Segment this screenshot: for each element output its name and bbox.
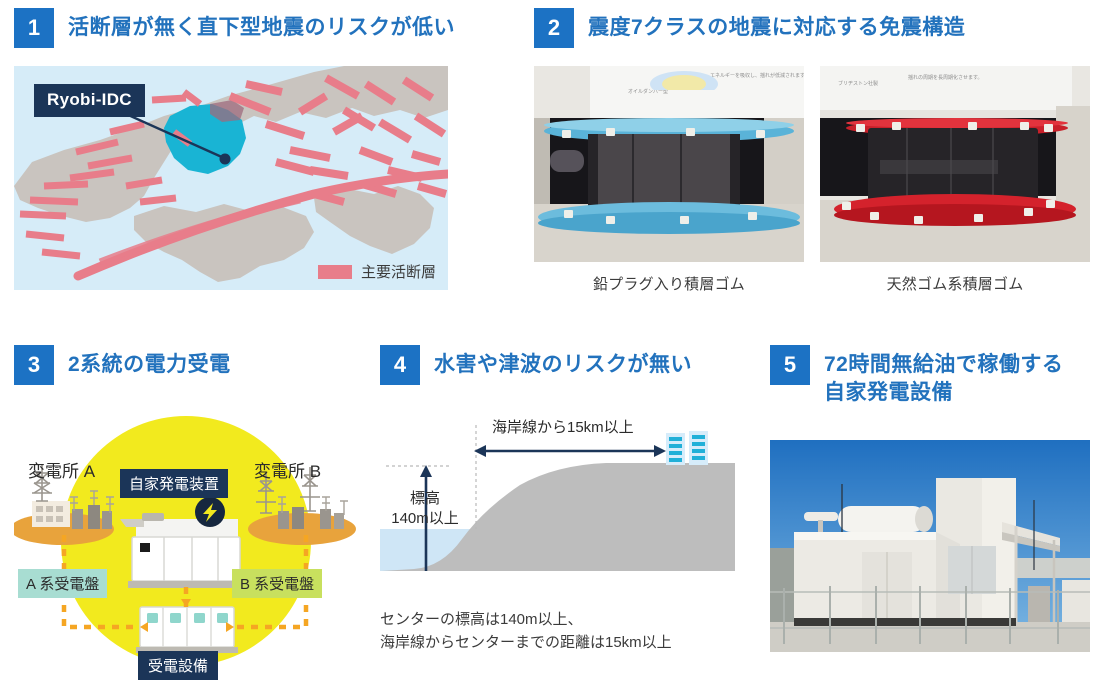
section-2-header: 2 震度7クラスの地震に対応する免震構造 xyxy=(534,8,1089,48)
section-1-badge: 1 xyxy=(14,8,54,48)
section-2-title: 震度7クラスの地震に対応する免震構造 xyxy=(588,8,965,42)
section-3-header: 3 2系統の電力受電 xyxy=(14,345,359,385)
section-4-title: 水害や津波のリスクが無い xyxy=(434,345,692,379)
section-3: 3 2系統の電力受電 xyxy=(14,345,359,666)
photo-2-poster: ブリヂストン社製 揺れの周期を長周期化させます。 xyxy=(820,66,1072,110)
photo-caption-1: 鉛プラグ入り積層ゴム xyxy=(534,273,804,294)
section-1-title: 活断層が無く直下型地震のリスクが低い xyxy=(68,8,455,42)
section-4-caption: センターの標高は140m以上、 海岸線からセンターまでの距離は15km以上 xyxy=(380,608,750,655)
label-panel-b: B 系受電盤 xyxy=(232,569,322,598)
photo-natural-rubber-bearing: ブリヂストン社製 揺れの周期を長周期化させます。 xyxy=(820,66,1090,262)
isolator-photo-cell-2: ブリヂストン社製 揺れの周期を長周期化させます。 xyxy=(820,66,1090,294)
section-3-title: 2系統の電力受電 xyxy=(68,345,231,379)
section-3-badge: 3 xyxy=(14,345,54,385)
photo-2-poster-text-2: 揺れの周期を長周期化させます。 xyxy=(908,74,983,81)
legend-swatch-fault xyxy=(318,265,352,279)
section-1-header: 1 活断層が無く直下型地震のリスクが低い xyxy=(14,8,514,48)
isolator-photo-cell-1: オイルダンパー型 エネルギーを吸収し、揺れが低減されます。 xyxy=(534,66,804,294)
label-elevation: 標高 140m以上 xyxy=(382,489,468,530)
generator-photo-graphic xyxy=(770,440,1090,652)
elevation-distance-diagram: 海岸線から15km以上 標高 140m以上 xyxy=(380,411,735,596)
isolator-photo-row: オイルダンパー型 エネルギーを吸収し、揺れが低減されます。 xyxy=(534,66,1089,294)
section-2-badge: 2 xyxy=(534,8,574,48)
label-panel-a: A 系受電盤 xyxy=(18,569,107,598)
section-4-header: 4 水害や津波のリスクが無い xyxy=(380,345,750,385)
photo-backup-generator-facility xyxy=(770,440,1090,652)
section-4-badge: 4 xyxy=(380,345,420,385)
label-distance-from-coast: 海岸線から15km以上 xyxy=(492,416,634,437)
dual-feed-power-diagram: 変電所 A 変電所 B 自家発電装置 A 系受電盤 B 系受電盤 受電設備 xyxy=(14,401,359,666)
power-diagram-graphic xyxy=(14,401,359,666)
label-receiving-equipment: 受電設備 xyxy=(138,651,218,680)
site-label-ryobi-idc: Ryobi-IDC xyxy=(34,84,145,117)
legend-label-fault: 主要活断層 xyxy=(361,261,436,282)
section-4: 4 水害や津波のリスクが無い xyxy=(380,345,750,655)
section-2: 2 震度7クラスの地震に対応する免震構造 オイルダンパー型 エネルギーを吸収し、… xyxy=(534,8,1089,294)
section-5-header: 5 72時間無給油で稼働する 自家発電設備 xyxy=(770,345,1095,406)
section-5-badge: 5 xyxy=(770,345,810,385)
label-generator: 自家発電装置 xyxy=(120,469,228,498)
photo-1-poster-diagram xyxy=(646,68,722,90)
section-1: 1 活断層が無く直下型地震のリスクが低い xyxy=(14,8,514,290)
label-substation-b: 変電所 B xyxy=(254,457,321,482)
infographic-page: 1 活断層が無く直下型地震のリスクが低い xyxy=(0,0,1101,663)
photo-lead-plug-rubber-bearing: オイルダンパー型 エネルギーを吸収し、揺れが低減されます。 xyxy=(534,66,804,262)
section-5: 5 72時間無給油で稼働する 自家発電設備 xyxy=(770,345,1095,652)
map-legend: 主要活断層 xyxy=(318,261,436,282)
label-substation-a: 変電所 A xyxy=(28,457,95,482)
label-elevation-line-2: 140m以上 xyxy=(382,509,468,529)
photo-2-poster-text-1: ブリヂストン社製 xyxy=(838,80,878,87)
section-5-title: 72時間無給油で稼働する 自家発電設備 xyxy=(824,345,1063,406)
label-elevation-line-1: 標高 xyxy=(382,489,468,509)
photo-1-poster: オイルダンパー型 エネルギーを吸収し、揺れが低減されます。 xyxy=(590,66,804,118)
photo-1-poster-text-2: エネルギーを吸収し、揺れが低減されます。 xyxy=(710,72,804,79)
active-fault-map: Ryobi-IDC 主要活断層 xyxy=(14,66,448,290)
photo-caption-2: 天然ゴム系積層ゴム xyxy=(820,273,1090,294)
